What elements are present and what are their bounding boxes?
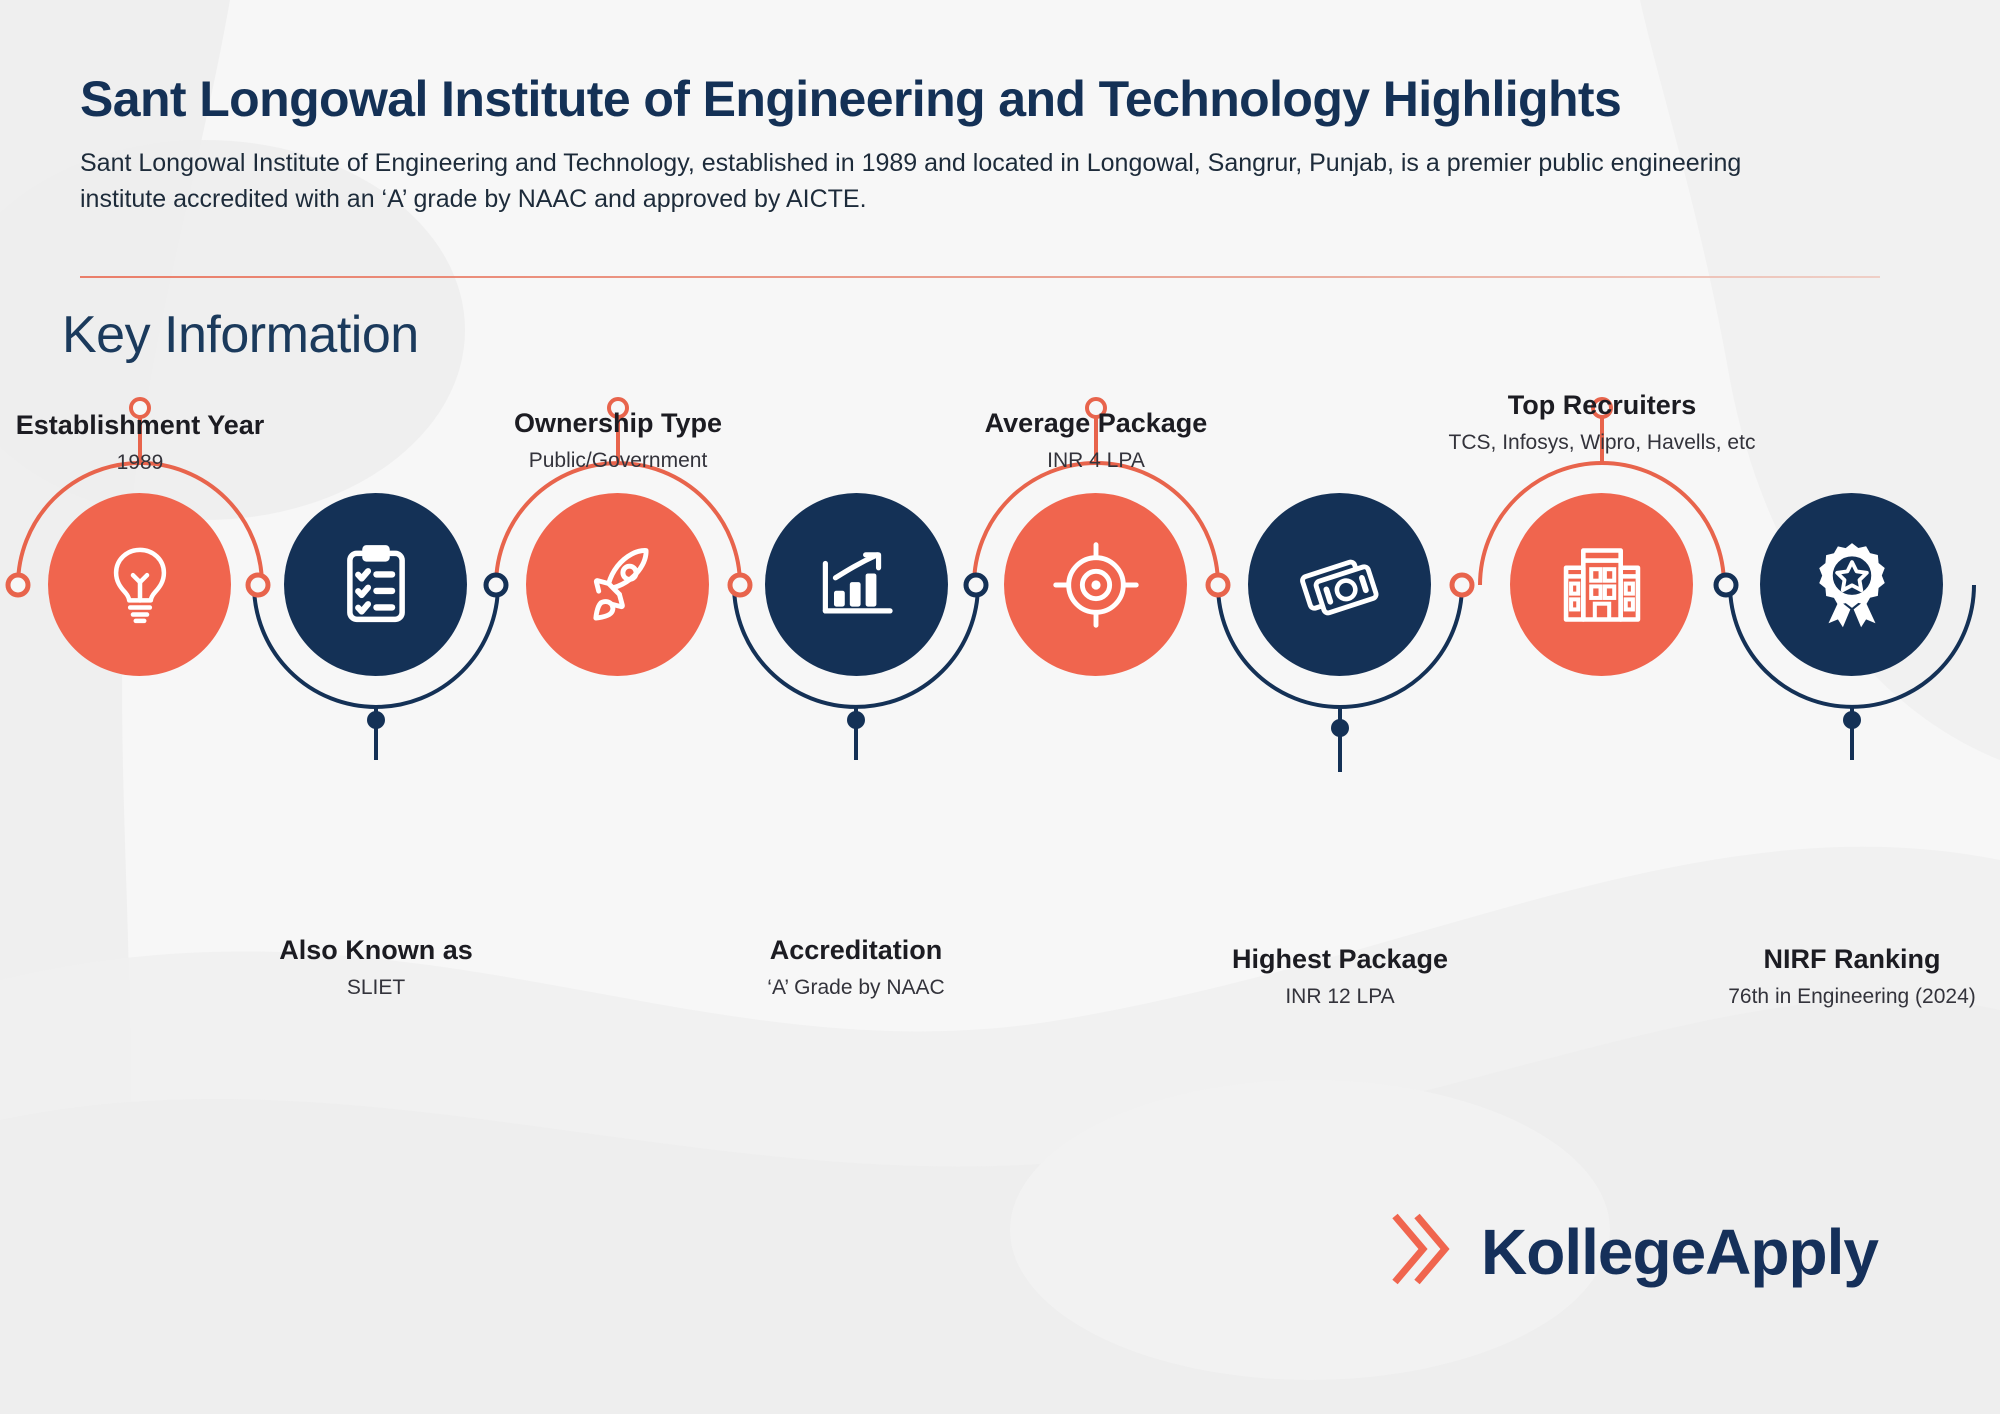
label-title: Also Known as — [236, 935, 516, 966]
label-title: NIRF Ranking — [1662, 944, 2000, 975]
building-icon — [1556, 539, 1648, 631]
label-accreditation: Accreditation ‘A’ Grade by NAAC — [716, 935, 996, 1000]
rocket-icon — [572, 539, 664, 631]
label-value: INR 12 LPA — [1200, 985, 1480, 1009]
lightbulb-icon — [95, 540, 185, 630]
label-average-package: Average Package INR 4 LPA — [956, 408, 1236, 473]
label-value: TCS, Infosys, Wipro, Havells, etc — [1437, 431, 1767, 455]
label-nirf-ranking: NIRF Ranking 76th in Engineering (2024) — [1662, 944, 2000, 1009]
node-also-known-as[interactable] — [284, 493, 467, 676]
page-title: Sant Longowal Institute of Engineering a… — [80, 72, 1932, 127]
node-top-recruiters[interactable] — [1510, 493, 1693, 676]
page-subtitle: Sant Longowal Institute of Engineering a… — [80, 145, 1820, 218]
node-accreditation[interactable] — [765, 493, 948, 676]
label-highest-package: Highest Package INR 12 LPA — [1200, 944, 1480, 1009]
label-title: Ownership Type — [478, 408, 758, 439]
label-value: ‘A’ Grade by NAAC — [716, 976, 996, 1000]
header-divider — [80, 276, 1880, 278]
bar-chart-icon — [811, 539, 903, 631]
label-title: Top Recruiters — [1437, 390, 1767, 421]
target-icon — [1050, 539, 1142, 631]
clipboard-icon — [332, 541, 420, 629]
label-top-recruiters: Top Recruiters TCS, Infosys, Wipro, Have… — [1437, 390, 1767, 455]
label-value: INR 4 LPA — [956, 449, 1236, 473]
label-title: Accreditation — [716, 935, 996, 966]
node-highest-package[interactable] — [1248, 493, 1431, 676]
kollegeapply-logo[interactable]: KollegeApply — [1385, 1210, 1878, 1293]
header: Sant Longowal Institute of Engineering a… — [80, 72, 1932, 218]
label-title: Highest Package — [1200, 944, 1480, 975]
award-badge-icon — [1805, 538, 1899, 632]
logo-wordmark: KollegeApply — [1481, 1215, 1878, 1289]
label-establishment-year: Establishment Year 1989 — [0, 410, 280, 475]
label-title: Establishment Year — [0, 410, 280, 441]
label-value: 76th in Engineering (2024) — [1662, 985, 2000, 1009]
node-average-package[interactable] — [1004, 493, 1187, 676]
money-icon — [1294, 539, 1386, 631]
node-nirf-ranking[interactable] — [1760, 493, 1943, 676]
label-value: Public/Government — [478, 449, 758, 473]
label-value: 1989 — [0, 451, 280, 475]
double-chevron-icon — [1385, 1210, 1455, 1293]
label-title: Average Package — [956, 408, 1236, 439]
label-also-known-as: Also Known as SLIET — [236, 935, 516, 1000]
section-heading: Key Information — [62, 305, 419, 365]
label-value: SLIET — [236, 976, 516, 1000]
label-ownership-type: Ownership Type Public/Government — [478, 408, 758, 473]
node-establishment-year[interactable] — [48, 493, 231, 676]
node-ownership-type[interactable] — [526, 493, 709, 676]
